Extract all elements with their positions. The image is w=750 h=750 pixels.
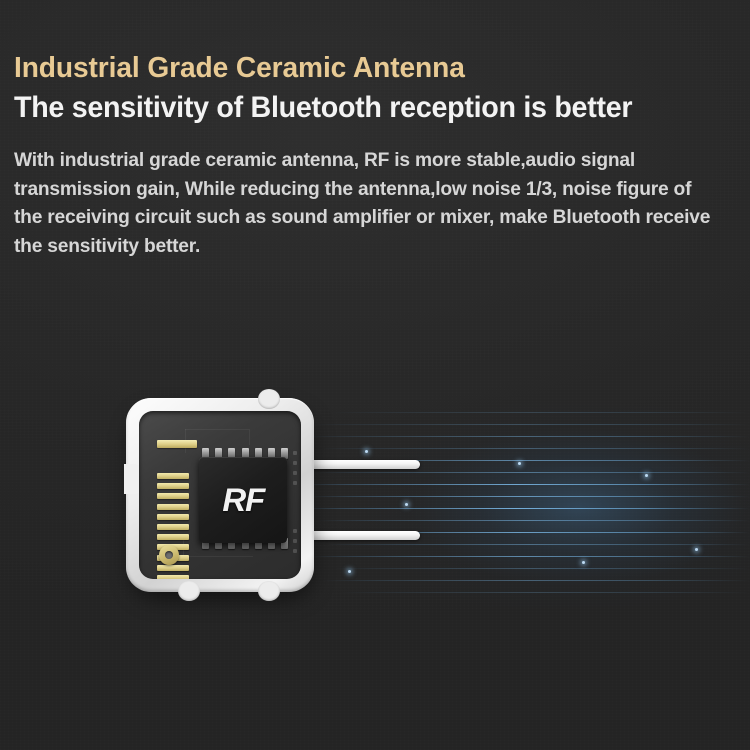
subheadline: The sensitivity of Bluetooth reception i… — [14, 91, 704, 125]
gold-pad — [157, 493, 189, 499]
gold-pad — [157, 473, 189, 479]
signal-particle — [582, 561, 585, 564]
headline: Industrial Grade Ceramic Antenna — [14, 52, 714, 84]
antenna-stub-lower — [308, 531, 420, 540]
gold-pad — [157, 524, 189, 530]
rf-ic-package: RF — [199, 457, 287, 543]
solder-dot — [293, 539, 297, 543]
gold-pad — [157, 504, 189, 510]
solder-dot — [293, 529, 297, 533]
signal-particle — [365, 450, 368, 453]
signal-line — [322, 580, 750, 581]
rf-chip-module: RF — [126, 398, 314, 592]
body-paragraph: With industrial grade ceramic antenna, R… — [14, 146, 719, 261]
signal-line — [318, 520, 750, 521]
signal-particle — [645, 474, 648, 477]
signal-line — [300, 484, 750, 485]
solder-dot — [293, 471, 297, 475]
signal-particle — [518, 462, 521, 465]
text-block: Industrial Grade Ceramic Antenna The sen… — [14, 52, 736, 261]
gold-pad — [157, 575, 189, 579]
chip-pcb: RF — [139, 411, 301, 579]
signal-line — [314, 472, 750, 473]
signal-line — [306, 436, 750, 437]
notch-bottom-right — [258, 581, 280, 601]
signal-line — [334, 568, 750, 569]
antenna-stub-upper — [308, 460, 420, 469]
signal-line — [330, 412, 750, 413]
gold-pad — [157, 514, 189, 520]
notch-top-right — [258, 389, 280, 409]
signal-particle — [348, 570, 351, 573]
pcb-trace — [185, 429, 249, 430]
solder-dot — [293, 461, 297, 465]
product-feature-panel: Industrial Grade Ceramic Antenna The sen… — [0, 0, 750, 750]
notch-bottom-left — [178, 581, 200, 601]
rf-signal-field — [300, 398, 750, 608]
signal-line — [310, 556, 750, 557]
signal-line — [340, 592, 750, 593]
signal-glow — [300, 398, 750, 608]
ic-label: RF — [222, 482, 264, 519]
signal-particle — [405, 503, 408, 506]
pcb-trace — [249, 429, 250, 445]
gold-pad — [157, 534, 189, 540]
chip-shield-frame: RF — [126, 398, 314, 592]
solder-dot — [293, 451, 297, 455]
signal-line — [320, 448, 750, 449]
gold-via-hole — [159, 545, 179, 565]
pcb-trace — [183, 556, 253, 557]
signal-line — [300, 508, 750, 509]
signal-particle — [695, 548, 698, 551]
signal-line — [308, 496, 750, 497]
signal-line — [312, 424, 750, 425]
signal-line — [326, 544, 750, 545]
gold-pad — [157, 565, 189, 571]
gold-pad — [157, 483, 189, 489]
solder-dot — [293, 549, 297, 553]
gold-trace-top — [157, 440, 197, 448]
solder-dot — [293, 481, 297, 485]
